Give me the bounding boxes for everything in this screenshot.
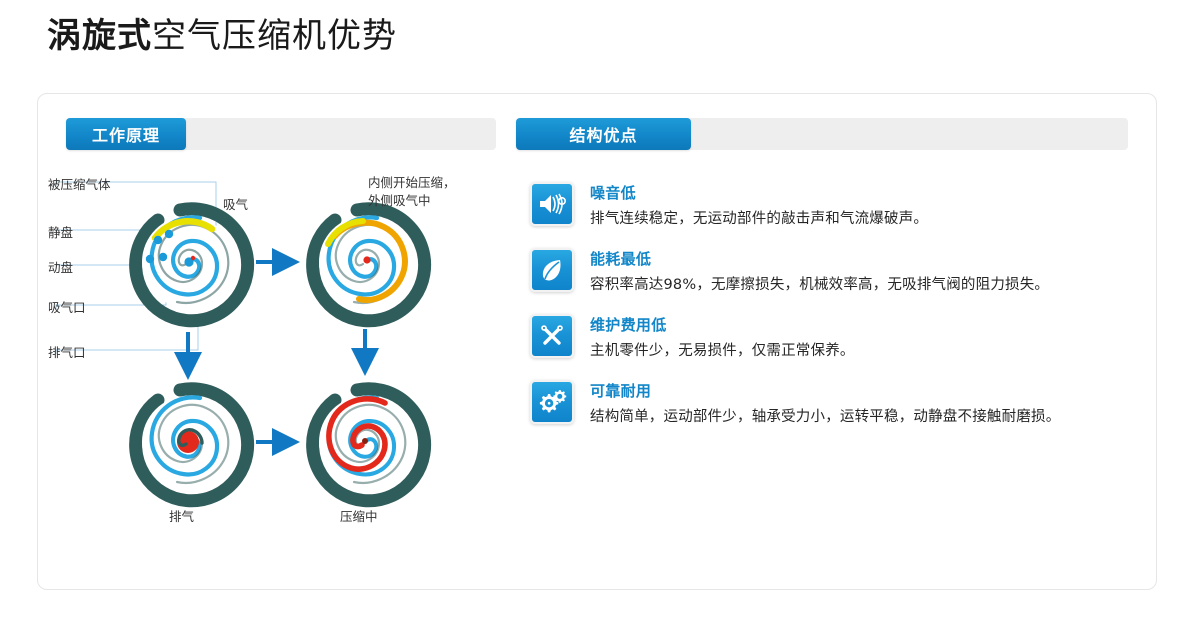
- gears-icon: [530, 380, 574, 424]
- spiral-stage-suction: [132, 206, 248, 321]
- feature-desc: 结构简单，运动部件少，轴承受力小，运转平稳，动静盘不接触耐磨损。: [590, 405, 1130, 430]
- stage-label-compressing: 压缩中: [340, 509, 378, 525]
- stage-label-suction: 吸气: [223, 197, 248, 213]
- tab-working-principle[interactable]: 工作原理: [66, 118, 186, 150]
- scroll-compressor-diagram: 被压缩气体 静盘 动盘 吸气口 排气口 吸气 内侧开始压缩， 外侧吸气中 排气 …: [48, 164, 498, 564]
- leaf-icon: [530, 248, 574, 292]
- feature-desc: 主机零件少，无易损件，仅需正常保养。: [590, 339, 1130, 364]
- feature-item-low-noise: 噪音低 排气连续稳定，无运动部件的敲击声和气流爆破声。: [530, 182, 1130, 232]
- section-header-structural-advantages: 结构优点: [516, 118, 1128, 150]
- callout-suction-port: 吸气口: [48, 300, 86, 316]
- stage-label-inner-compress-line1: 内侧开始压缩，: [368, 175, 456, 191]
- speaker-sound-icon: [530, 182, 574, 226]
- callout-orbiting-scroll: 动盘: [48, 260, 73, 276]
- stage-label-inner-compress-line2: 外侧吸气中: [368, 193, 431, 209]
- spiral-stage-compressing: [313, 389, 425, 501]
- callout-compressed-gas: 被压缩气体: [48, 177, 111, 193]
- tools-wrench-screwdriver-icon: [530, 314, 574, 358]
- feature-title: 噪音低: [590, 183, 1130, 204]
- feature-text-reliable-durable: 可靠耐用 结构简单，运动部件少，轴承受力小，运转平稳，动静盘不接触耐磨损。: [590, 380, 1130, 430]
- feature-item-low-maintenance: 维护费用低 主机零件少，无易损件，仅需正常保养。: [530, 314, 1130, 364]
- feature-item-low-energy: 能耗最低 容积率高达98%，无摩擦损失，机械效率高，无吸排气阀的阻力损失。: [530, 248, 1130, 298]
- stage-label-discharge: 排气: [169, 509, 194, 525]
- feature-title: 能耗最低: [590, 249, 1130, 270]
- content-panel: 工作原理 结构优点: [37, 93, 1157, 590]
- callout-fixed-scroll: 静盘: [48, 225, 73, 241]
- page-title: 涡旋式空气压缩机优势: [47, 14, 397, 58]
- feature-text-low-energy: 能耗最低 容积率高达98%，无摩擦损失，机械效率高，无吸排气阀的阻力损失。: [590, 248, 1130, 298]
- feature-list: 噪音低 排气连续稳定，无运动部件的敲击声和气流爆破声。 能耗最低 容积率高达98…: [530, 182, 1130, 446]
- feature-title: 维护费用低: [590, 315, 1130, 336]
- tab-structural-advantages[interactable]: 结构优点: [516, 118, 691, 150]
- feature-desc: 容积率高达98%，无摩擦损失，机械效率高，无吸排气阀的阻力损失。: [590, 273, 1130, 298]
- feature-desc: 排气连续稳定，无运动部件的敲击声和气流爆破声。: [590, 207, 1130, 232]
- feature-title: 可靠耐用: [590, 381, 1130, 402]
- callout-discharge-port: 排气口: [48, 345, 86, 361]
- feature-text-low-maintenance: 维护费用低 主机零件少，无易损件，仅需正常保养。: [590, 314, 1130, 364]
- spiral-stage-inner-compress: [313, 209, 425, 321]
- section-header-working-principle: 工作原理: [66, 118, 496, 150]
- diagram-svg: [48, 164, 498, 564]
- page-title-strong: 涡旋式: [47, 16, 152, 56]
- feature-item-reliable-durable: 可靠耐用 结构简单，运动部件少，轴承受力小，运转平稳，动静盘不接触耐磨损。: [530, 380, 1130, 430]
- spiral-stage-discharge: [136, 389, 248, 501]
- page-title-light: 空气压缩机优势: [152, 16, 397, 56]
- feature-text-low-noise: 噪音低 排气连续稳定，无运动部件的敲击声和气流爆破声。: [590, 182, 1130, 232]
